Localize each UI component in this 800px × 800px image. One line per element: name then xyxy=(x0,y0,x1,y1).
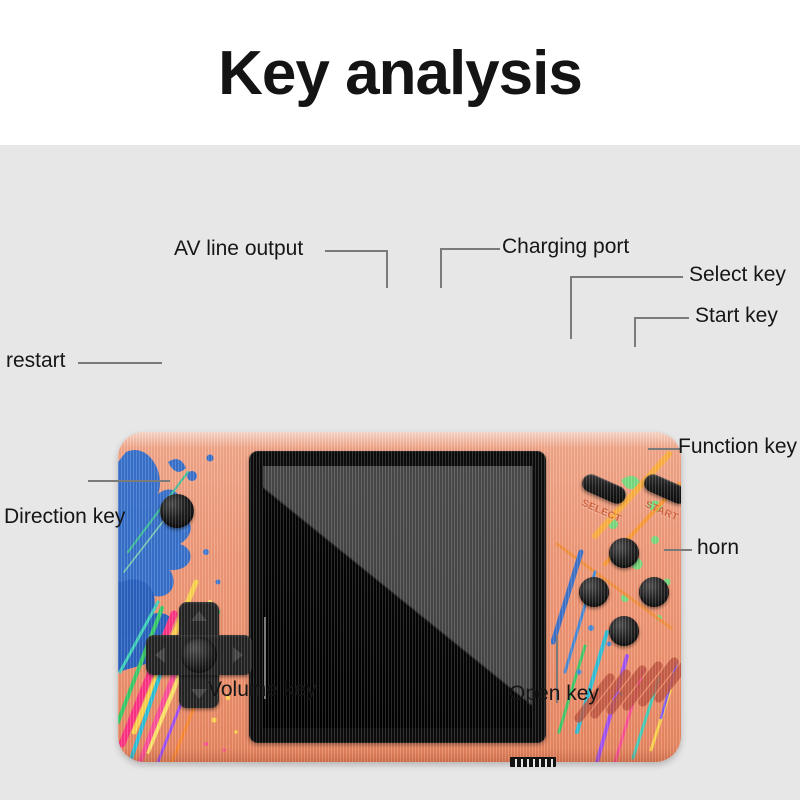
handheld-console-illustration: SELECT START xyxy=(118,432,681,762)
action-button-top[interactable] xyxy=(609,538,639,568)
leader-start-key-horizontal xyxy=(634,317,689,319)
leader-start-key-vertical xyxy=(634,317,636,347)
diagram-page: Key analysis xyxy=(0,0,800,800)
dpad-center-hub[interactable] xyxy=(181,637,217,673)
diagram-panel: SELECT START xyxy=(0,145,800,800)
leader-charging-port-vertical xyxy=(440,248,442,288)
leader-select-key-horizontal xyxy=(570,276,683,278)
leader-direction-key xyxy=(88,480,170,482)
leader-av-line-output-vertical xyxy=(386,250,388,288)
label-select-key: Select key xyxy=(689,263,786,287)
page-title: Key analysis xyxy=(0,38,800,109)
label-av-line-output: AV line output xyxy=(174,237,303,261)
label-horn: horn xyxy=(697,536,739,560)
dpad-up-arrow-icon[interactable] xyxy=(191,611,207,621)
dpad-left-arrow-icon[interactable] xyxy=(155,647,165,663)
label-volume-key: Volume key xyxy=(208,678,317,702)
label-restart: restart xyxy=(6,349,66,373)
label-start-key: Start key xyxy=(695,304,778,328)
dpad-down-arrow-icon[interactable] xyxy=(191,689,207,699)
leader-function-key xyxy=(648,448,680,450)
label-charging-port: Charging port xyxy=(502,235,629,259)
speaker-horn xyxy=(588,654,681,732)
header-band: Key analysis xyxy=(0,0,800,145)
leader-horn xyxy=(664,549,692,551)
action-button-bottom[interactable] xyxy=(609,616,639,646)
label-function-key: Function key xyxy=(678,435,797,459)
action-button-left[interactable] xyxy=(579,577,609,607)
label-open-key: Open key xyxy=(509,682,599,706)
function-button[interactable] xyxy=(639,577,669,607)
leader-select-key-vertical xyxy=(570,276,572,339)
shell-top-highlight xyxy=(118,432,681,448)
restart-button[interactable] xyxy=(160,494,194,528)
leader-charging-port-horizontal xyxy=(440,248,500,250)
open-key-switch[interactable] xyxy=(510,757,556,767)
dpad-right-arrow-icon[interactable] xyxy=(233,647,243,663)
console-shell: SELECT START xyxy=(118,432,681,762)
label-direction-key: Direction key xyxy=(4,505,125,529)
leader-restart xyxy=(78,362,162,364)
leader-av-line-output-horizontal xyxy=(325,250,388,252)
shell-bottom-shadow xyxy=(118,748,681,762)
